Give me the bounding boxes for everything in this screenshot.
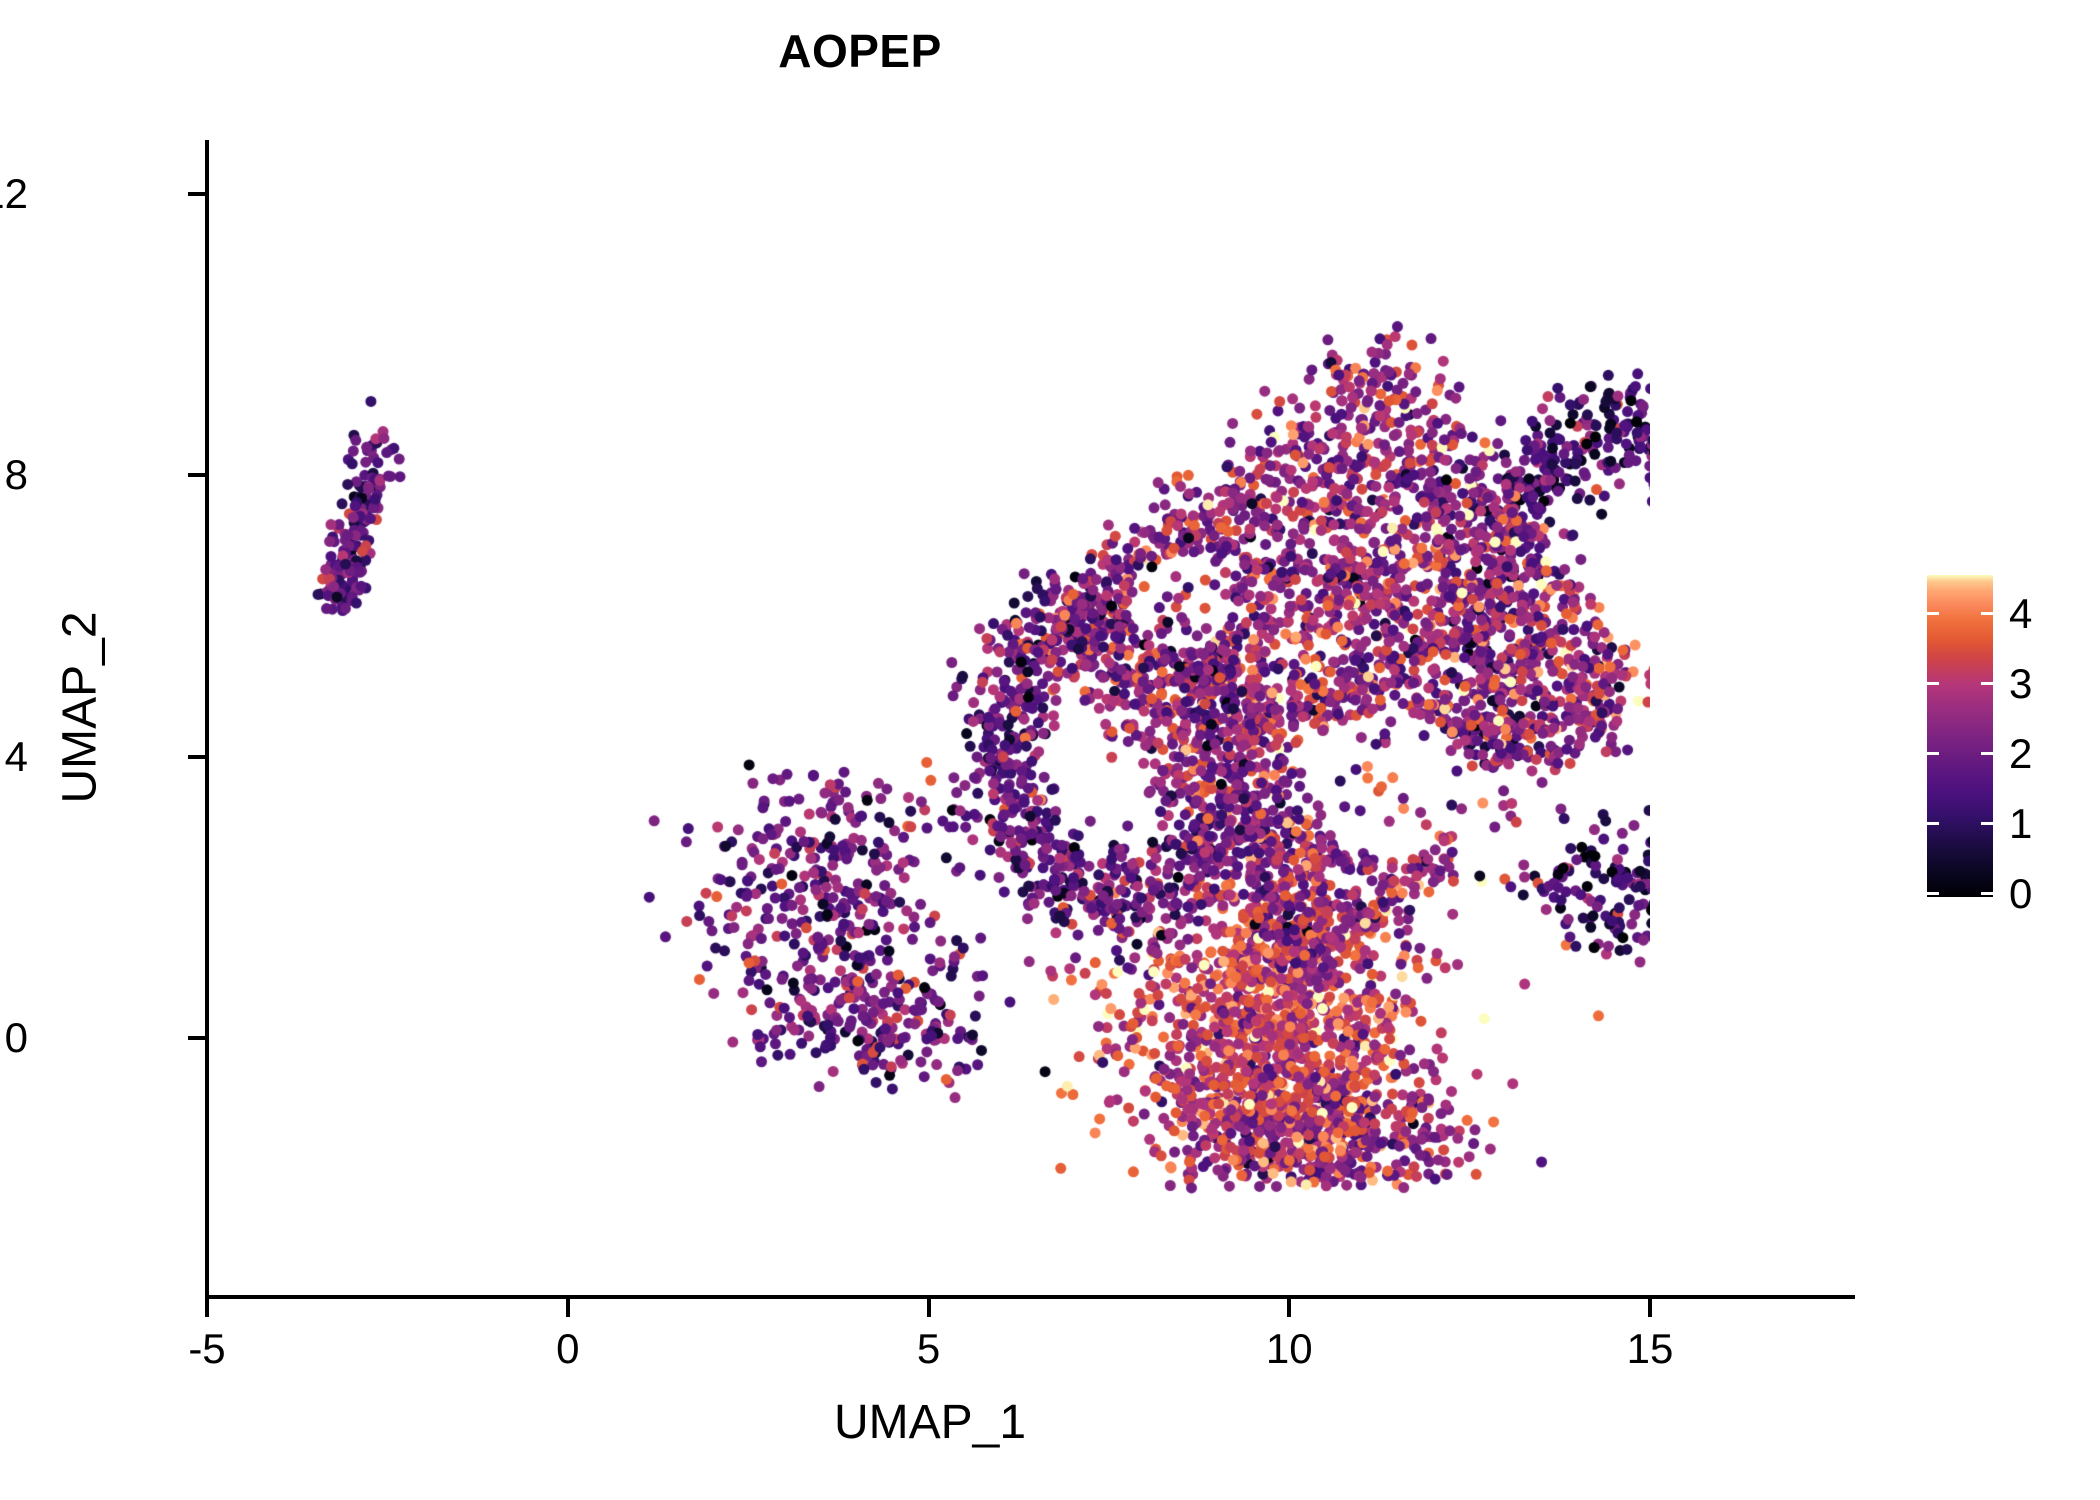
y-tick-label: 0 (0, 1017, 28, 1059)
x-tick-label: -5 (127, 1326, 287, 1372)
colorbar-tick-label: 3 (2009, 663, 2079, 705)
x-tick-label: 0 (488, 1326, 648, 1372)
y-tick-mark (188, 192, 206, 196)
y-tick-mark (188, 1036, 206, 1040)
x-tick-mark (205, 1299, 209, 1317)
colorbar-tick-label: 1 (2009, 803, 2079, 845)
page-title: AOPEP (0, 24, 1720, 78)
colorbar-tick-mark (1927, 682, 1939, 685)
y-tick-label: 8 (0, 454, 28, 496)
colorbar-tick-mark (1981, 682, 1993, 685)
x-tick-label: 10 (1209, 1326, 1369, 1372)
colorbar-tick-mark (1981, 822, 1993, 825)
colorbar-tick-label: 4 (2009, 593, 2079, 635)
colorbar-tick-mark (1927, 612, 1939, 615)
x-tick-mark (927, 1299, 931, 1317)
y-tick-label: 4 (0, 736, 28, 778)
plot-panel (207, 140, 1650, 1297)
colorbar-tick-label: 0 (2009, 873, 2079, 915)
y-tick-label: 12 (0, 173, 28, 215)
x-axis-title: UMAP_1 (205, 1395, 1655, 1450)
colorbar-gradient (1927, 575, 1993, 897)
y-tick-mark (188, 755, 206, 759)
colorbar-tick-mark (1927, 752, 1939, 755)
colorbar-tick-mark (1927, 892, 1939, 895)
y-tick-mark (188, 473, 206, 477)
figure-root: AOPEP 04812 -5051015 UMAP_1 UMAP_2 01234 (0, 0, 2100, 1500)
y-axis-line (205, 140, 209, 1299)
colorbar-tick-mark (1981, 892, 1993, 895)
x-tick-label: 5 (849, 1326, 1009, 1372)
colorbar-legend: 01234 (1927, 575, 1993, 897)
colorbar-tick-mark (1981, 612, 1993, 615)
x-axis-line (205, 1295, 1855, 1299)
colorbar-tick-label: 2 (2009, 733, 2079, 775)
x-tick-mark (566, 1299, 570, 1317)
x-tick-mark (1287, 1299, 1291, 1317)
x-tick-mark (1648, 1299, 1652, 1317)
scatter-plot-canvas (207, 140, 1650, 1297)
colorbar-tick-mark (1927, 822, 1939, 825)
y-axis-title: UMAP_2 (53, 358, 108, 1058)
x-tick-label: 15 (1570, 1326, 1730, 1372)
colorbar-tick-mark (1981, 752, 1993, 755)
